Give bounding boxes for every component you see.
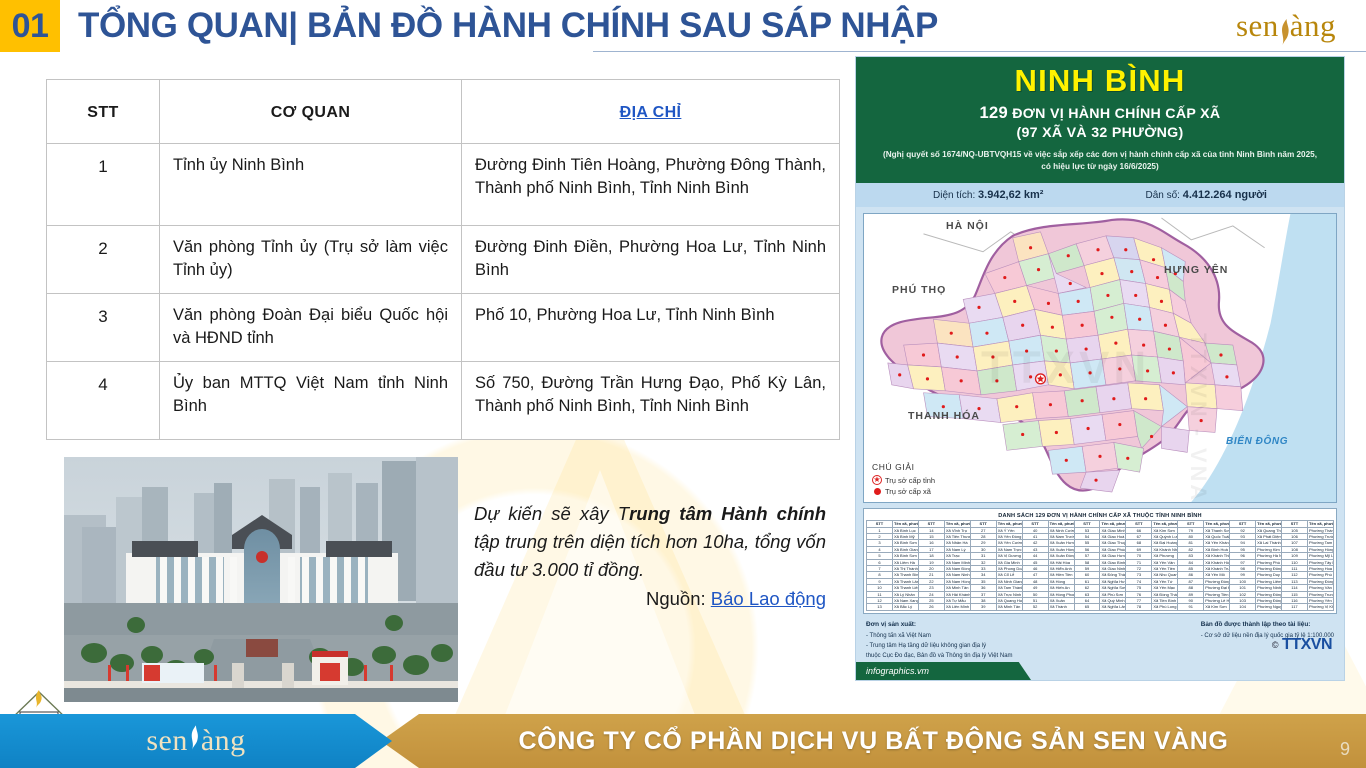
producer-line1: - Thông tấn xã Việt Nam (866, 633, 931, 639)
commune-name: Phường Lê Hồ (1204, 597, 1230, 603)
infographic-title: NINH BÌNH (866, 65, 1334, 98)
unit-breakdown: (97 XÃ VÀ 32 PHƯỜNG) (1016, 125, 1183, 141)
commune-name: Xã Phú Sơn (1100, 591, 1126, 597)
commune-name: Phường Hoa Lư (1307, 565, 1333, 571)
column-header-agency: CƠ QUAN (160, 80, 462, 144)
unit-count: 129 (980, 104, 1008, 122)
commune-col-name: Tên xã, phường (1100, 521, 1126, 527)
commune-index: 65 (1074, 604, 1100, 610)
commune-col-name: Tên xã, phường (1048, 521, 1074, 527)
photo-caption: Dự kiến sẽ xây Trung tâm Hành chính tập … (474, 500, 826, 584)
commune-name: Xã Khánh Trung (1204, 565, 1230, 571)
commune-name: Xã Bình Hoà (1204, 546, 1230, 552)
commune-name: Xã Khánh Nhạc (1152, 546, 1178, 552)
commune-name: Xã Tiền Bình (1152, 597, 1178, 603)
commune-name: Xã Nho Quan (1152, 572, 1178, 578)
unit-count-label: ĐƠN VỊ HÀNH CHÍNH CẤP XÃ (1008, 106, 1220, 122)
commune-name: Xã Liên Minh (944, 604, 970, 610)
commune-name: Xã Nam Ninh (944, 572, 970, 578)
commune-name: Xã Nam Hồng (944, 578, 970, 584)
legend-item-commune: Trụ sở cấp xã (872, 487, 935, 496)
commune-list-caption: DANH SÁCH 129 ĐƠN VỊ HÀNH CHÍNH CẤP XÃ T… (866, 511, 1334, 520)
caption-tail: tập trung trên diện tích hơn 10ha, tổng … (474, 531, 826, 580)
commune-name: Xã Bình Sơn (892, 553, 918, 559)
footer-company-banner: CÔNG TY CỔ PHẦN DỊCH VỤ BẤT ĐỘNG SẢN SEN… (381, 714, 1366, 768)
commune-name: Phường Liêm Tuyền (1256, 578, 1282, 584)
commune-index: 39 (970, 604, 996, 610)
commune-name: Phường Đại Hà (1204, 585, 1230, 591)
commune-name: Phường Đồng Hoa Lư (1307, 578, 1333, 584)
section-number-badge: 01 (0, 0, 60, 52)
commune-name: Xã Xuân Hồng (1048, 546, 1074, 552)
commune-name: Phường Phù Vân (1256, 559, 1282, 565)
commune-name: Xã Quý Minh (1100, 597, 1126, 603)
commune-name: Phường Trung Sơn (1307, 591, 1333, 597)
footer-brand-banner: sen àng (0, 714, 392, 768)
commune-name: Xã Thanh Lâm (892, 578, 918, 584)
cell-stt: 4 (47, 361, 160, 439)
stat-population-value: 4.412.264 người (1183, 189, 1267, 201)
commune-list-box: DANH SÁCH 129 ĐƠN VỊ HÀNH CHÍNH CẤP XÃ T… (863, 508, 1337, 613)
commune-name: Phường Vân Sơn (1307, 585, 1333, 591)
commune-name: Xã Yên Cường (996, 540, 1022, 546)
cell-address: Đường Đinh Điền, Phường Hoa Lư, Tỉnh Nin… (462, 226, 840, 294)
page-title: TỔNG QUAN| BẢN ĐỒ HÀNH CHÍNH SAU SÁP NHẬ… (60, 0, 1206, 52)
commune-name: Xã Nhân Hà (944, 540, 970, 546)
commune-name: Xã Tiên Thương (944, 534, 970, 540)
commune-name: Phường Nguyễn Uý (1256, 604, 1282, 610)
producer-line3: thuộc Cục Đo đạc, Bản đồ và Thông tin đị… (866, 653, 1013, 659)
commune-name: Xã Ninh Cường (1048, 527, 1074, 533)
agency-name: TTXVN (1282, 636, 1332, 654)
commune-name: Phường Ninh Bình (1256, 585, 1282, 591)
commune-name: Xã Bắc Lý (892, 604, 918, 610)
table-row: 2 Văn phòng Tỉnh ủy (Trụ sở làm việc Tỉn… (47, 226, 840, 294)
commune-name: Phường Đồng Văn (1204, 578, 1230, 584)
commune-name: Phường Đông Tiến (1256, 565, 1282, 571)
header-divider (593, 51, 1366, 52)
commune-list-table: STTTên xã, phườngSTTTên xã, phườngSTTTên… (866, 520, 1334, 610)
commune-index: 78 (1126, 604, 1152, 610)
infographics-site-tab: infographics.vm (856, 662, 1031, 680)
commune-name: Xã Kim Sơn (1204, 604, 1230, 610)
commune-name: Xã Giao Phúc (1100, 546, 1126, 552)
commune-name: Xã Đông Thành (1100, 572, 1126, 578)
commune-name: Xã Thành (1048, 604, 1074, 610)
commune-col-name: Tên xã, phường (1204, 521, 1230, 527)
commune-name: Xã Kim Sơn (1152, 527, 1178, 533)
footer-company-name: CÔNG TY CỔ PHẦN DỊCH VỤ BẤT ĐỘNG SẢN SEN… (519, 727, 1229, 756)
stat-area-label: Diện tích: (933, 190, 978, 201)
dot-marker-icon (874, 488, 881, 495)
commune-name: Phường Yên Thắng (1307, 597, 1333, 603)
commune-name: Phường Vị Khê (1307, 604, 1333, 610)
commune-name: Xã Bình Lục (892, 527, 918, 533)
commune-name: Xã Trực Ninh (996, 591, 1022, 597)
slide: 01 TỔNG QUAN| BẢN ĐỒ HÀNH CHÍNH SAU SÁP … (0, 0, 1366, 768)
administrative-building-photo (64, 457, 458, 702)
map-legend: CHÚ GIẢI ★ Trụ sở cấp tỉnh Trụ sở cấp xã (872, 462, 935, 496)
commune-name: Xã Phong Doanh (996, 565, 1022, 571)
map-label-thanh-hoa: THANH HÓA (908, 410, 980, 422)
ninh-binh-map: TTXVN TTXVN - VNA HÀ NỘI PHÚ THỌ HƯNG YÊ… (863, 213, 1337, 503)
commune-name: Xã Khánh Hòa (1204, 559, 1230, 565)
commune-name: Xã Giao Ninh (1100, 565, 1126, 571)
commune-name: Xã Quang Hưng (996, 597, 1022, 603)
lotus-flame-icon-footer (188, 724, 201, 758)
infographic-legal-note: (Nghị quyết số 1674/NQ-UBTVQH15 về việc … (866, 149, 1334, 173)
cell-address: Đường Đinh Tiên Hoàng, Phường Đông Thành… (462, 144, 840, 226)
table-row: 1 Tỉnh ủy Ninh Bình Đường Đinh Tiên Hoàn… (47, 144, 840, 226)
commune-name: Phường Phú Lý (1307, 572, 1333, 578)
map-source-title: Bản đồ được thành lập theo tài liệu: (1201, 621, 1311, 628)
source-label: Nguồn: (646, 588, 711, 609)
commune-index: 91 (1178, 604, 1204, 610)
commune-name: Phường Kim Đông (1256, 546, 1282, 552)
cell-address: Phố 10, Phường Hoa Lư, Tỉnh Ninh Bình (462, 293, 840, 361)
legend-label-commune: Trụ sở cấp xã (885, 487, 931, 496)
commune-name: Xã Giao Thuỷ (1100, 540, 1126, 546)
commune-name: Xã Lai Thành (1256, 540, 1282, 546)
commune-name: Xã Liêm Hà (892, 559, 918, 565)
commune-name: Phường Đông Sơn (1256, 591, 1282, 597)
commune-col-name: Tên xã, phường (1256, 521, 1282, 527)
page-number: 9 (1340, 739, 1350, 760)
commune-name: Xã Ninh Giang (996, 578, 1022, 584)
commune-name: Xã Bình Giang (892, 546, 918, 552)
commune-name: Phường Tam Giác (1307, 540, 1333, 546)
legend-title: CHÚ GIẢI (872, 462, 935, 472)
commune-index: 117 (1282, 604, 1308, 610)
commune-name: Xã Khánh Thiên (1204, 553, 1230, 559)
ttxvn-credit: © TTXVN (1272, 636, 1332, 654)
commune-name: Xã Hồng Phong (1048, 591, 1074, 597)
commune-name: Xã Nam Đồng (944, 565, 970, 571)
cell-agency: Văn phòng Đoàn Đại biểu Quốc hội và HĐND… (160, 293, 462, 361)
brand-logo-text-right: àng (1290, 8, 1336, 44)
legend-item-province: ★ Trụ sở cấp tỉnh (872, 475, 935, 485)
producer-title: Đơn vị sản xuất: (866, 621, 916, 628)
stat-population-label: Dân số: (1145, 190, 1182, 201)
copyright-icon: © (1272, 640, 1278, 650)
commune-index: 13 (867, 604, 893, 610)
commune-name: Xã Hải Khánh (944, 591, 970, 597)
commune-col-name: Tên xã, phường (1152, 521, 1178, 527)
legal-note-line1: (Nghị quyết số 1674/NQ-UBTVQH15 về việc … (883, 150, 1317, 159)
caption-lead: Dự kiến sẽ xây T (474, 503, 629, 524)
ninh-binh-infographic: NINH BÌNH 129 ĐƠN VỊ HÀNH CHÍNH CẤP XÃ (… (855, 56, 1345, 681)
map-label-ha-noi: HÀ NỘI (946, 220, 989, 232)
infographic-subtitle: 129 ĐƠN VỊ HÀNH CHÍNH CẤP XÃ (97 XÃ VÀ 3… (866, 103, 1334, 143)
footer-brand-text-left: sen (146, 724, 188, 758)
infographic-bottom-bar: infographics.vm (856, 662, 1344, 680)
commune-col-name: Tên xã, phường (944, 521, 970, 527)
commune-name: Xã Hiển Anh (1048, 565, 1074, 571)
map-label-phu-tho: PHÚ THỌ (892, 284, 946, 296)
cell-stt: 3 (47, 293, 160, 361)
commune-col-name: Tên xã, phường (996, 521, 1022, 527)
commune-name: Xã Thanh Sơn (1204, 527, 1230, 533)
footer-brand-text-right: àng (201, 724, 246, 758)
commune-index: 52 (1022, 604, 1048, 610)
commune-name: Xã Yên Mạc (1152, 585, 1178, 591)
commune-name: Xã Gia Minh (996, 559, 1022, 565)
commune-name: Xã Nam Trực (996, 546, 1022, 552)
commune-name: Phường Đông Á (1256, 597, 1282, 603)
stat-area: Diện tích: 3.942,62 km² (933, 189, 1043, 201)
commune-name: Xã Yên Khánh (1204, 540, 1230, 546)
commune-name: Xã Phú Long (1152, 604, 1178, 610)
commune-name: Xã Đồng Thái (1152, 591, 1178, 597)
commune-name: Phường Hà Nam (1256, 553, 1282, 559)
svg-text:TTXVN - VNA: TTXVN - VNA (1186, 333, 1211, 502)
infographic-header: NINH BÌNH 129 ĐƠN VỊ HÀNH CHÍNH CẤP XÃ (… (856, 57, 1344, 183)
source-link[interactable]: Báo Lao động (711, 588, 826, 609)
stat-population: Dân số: 4.412.264 người (1145, 189, 1267, 201)
commune-name: Xã Bình Sơn (892, 540, 918, 546)
producer-block: Đơn vị sản xuất: - Thông tấn xã Việt Nam… (866, 620, 1013, 661)
commune-name: Xã Vĩnh Trụ (944, 527, 970, 533)
commune-name: Xã Quỳnh Lưu (1152, 534, 1178, 540)
commune-name: Phường Tây Hoa Lư (1307, 559, 1333, 565)
cell-agency: Tỉnh ủy Ninh Bình (160, 144, 462, 226)
brand-logo-text-left: sen (1236, 8, 1279, 44)
table-row: 3 Văn phòng Đoàn Đại biểu Quốc hội và HĐ… (47, 293, 840, 361)
commune-name: Xã Phát Diệm (1256, 534, 1282, 540)
column-header-stt: STT (47, 80, 160, 144)
commune-list-row: 13Xã Bắc Lý26Xã Liên Minh39Xã Minh Tân52… (867, 604, 1334, 610)
commune-name: Xã Minh Tân (944, 585, 970, 591)
legend-label-province: Trụ sở cấp tỉnh (885, 476, 935, 485)
commune-name: Phường Hồng Quang (1307, 546, 1333, 552)
commune-name: Xã Tam Thành (996, 585, 1022, 591)
slide-header: 01 TỔNG QUAN| BẢN ĐỒ HÀNH CHÍNH SAU SÁP … (0, 0, 1366, 52)
commune-name: Xã Quốc Tuấn (1204, 534, 1230, 540)
commune-name: Xã Nghĩa Hưng (1100, 578, 1126, 584)
commune-name: Xã Yên Vân (1152, 559, 1178, 565)
commune-name: Phường Thành Sen (1307, 527, 1333, 533)
commune-name: Phường Duy Tân (1256, 572, 1282, 578)
commune-name: Xã Nam Minh (944, 559, 970, 565)
commune-name: Xã Bình Mỹ (892, 534, 918, 540)
source-line: Nguồn: Báo Lao động (474, 588, 826, 610)
commune-name: Xã Quang Thiện (1256, 527, 1282, 533)
commune-name: Xã Hiền Tiền (1048, 572, 1074, 578)
cell-stt: 2 (47, 226, 160, 294)
commune-name: Xã Thanh Bình (892, 572, 918, 578)
commune-name: Xã Xuân Hưng (1048, 540, 1074, 546)
commune-col-name: Tên xã, phường (1307, 521, 1333, 527)
commune-name: Xã Yên Đồng (996, 534, 1022, 540)
svg-text:TTXVN: TTXVN (981, 342, 1150, 393)
commune-name: Xã Nam Xang (892, 597, 918, 603)
stat-area-value: 3.942,62 km² (978, 189, 1043, 201)
commune-name: Phường Mỹ Lộc (1307, 553, 1333, 559)
star-marker-icon: ★ (872, 475, 882, 485)
infographic-stats: Diện tích: 3.942,62 km² Dân số: 4.412.26… (856, 183, 1344, 207)
commune-name: Phường Tiền Sơn (1204, 591, 1230, 597)
caption-bold: rung tâm Hành chính (629, 503, 826, 524)
commune-name: Xã Giao Bình (1100, 559, 1126, 565)
commune-name: Xã Phương (1152, 553, 1178, 559)
slide-footer: CÔNG TY CỔ PHẦN DỊCH VỤ BẤT ĐỘNG SẢN SEN… (0, 714, 1366, 768)
lotus-flame-icon (1278, 17, 1292, 43)
legal-note-line2: có hiệu lực từ ngày 16/6/2025) (1041, 162, 1158, 171)
table-row: 4 Ủy ban MTTQ Việt Nam tỉnh Ninh Bình Số… (47, 361, 840, 439)
commune-name: Xã Thị Thành (892, 565, 918, 571)
commune-name: Xã Nam Trường (1048, 534, 1074, 540)
commune-name: Xã Xuân Đồng (1048, 553, 1074, 559)
cell-stt: 1 (47, 144, 160, 226)
agency-address-table: STT CƠ QUAN ĐỊA CHỈ 1 Tỉnh ủy Ninh Bình … (46, 79, 840, 440)
cell-agency: Ủy ban MTTQ Việt Nam tỉnh Ninh Bình (160, 361, 462, 439)
infographic-footer: Đơn vị sản xuất: - Thông tấn xã Việt Nam… (856, 614, 1344, 661)
commune-name: Xã Yên Tiền (1152, 565, 1178, 571)
commune-name: Phường Trường Thi (1307, 534, 1333, 540)
commune-name: Xã Giao Hoà (1100, 534, 1126, 540)
commune-col-name: Tên xã, phường (892, 521, 918, 527)
commune-name: Xã Giao Minh (1100, 527, 1126, 533)
commune-name: Xã Vị Dương (996, 553, 1022, 559)
cell-address: Số 750, Đường Trần Hưng Đạo, Phố Kỳ Lân,… (462, 361, 840, 439)
commune-list-body: 1Xã Bình Lục14Xã Vĩnh Trụ27Xã Ý Yên40Xã … (867, 527, 1334, 610)
producer-line2: - Trung tâm Hạ tầng dữ liệu không gian đ… (866, 643, 986, 649)
table-header-row: STT CƠ QUAN ĐỊA CHỈ (47, 80, 840, 144)
commune-name: Xã Nghĩa Sơn (1100, 585, 1126, 591)
brand-logo-footer: sen àng (146, 724, 245, 758)
commune-name: Xã Thanh Liêm (892, 585, 918, 591)
brand-logo-header: sen àng (1206, 0, 1366, 52)
column-header-address[interactable]: ĐỊA CHỈ (462, 80, 840, 144)
commune-index: 104 (1230, 604, 1256, 610)
commune-name: Xã Giao Hưng (1100, 553, 1126, 559)
commune-name: Xã Lý Nhân (892, 591, 918, 597)
cell-agency: Văn phòng Tỉnh ủy (Trụ sở làm việc Tỉnh … (160, 226, 462, 294)
map-label-hung-yen: HƯNG YÊN (1164, 264, 1228, 276)
commune-name: Xã Minh Tân (996, 604, 1022, 610)
commune-index: 26 (918, 604, 944, 610)
commune-name: Xã Đại Hoàng (1152, 540, 1178, 546)
map-label-bien-dong: BIỂN ĐÔNG (1226, 436, 1288, 447)
commune-name: Xã Nghĩa Lâm (1100, 604, 1126, 610)
